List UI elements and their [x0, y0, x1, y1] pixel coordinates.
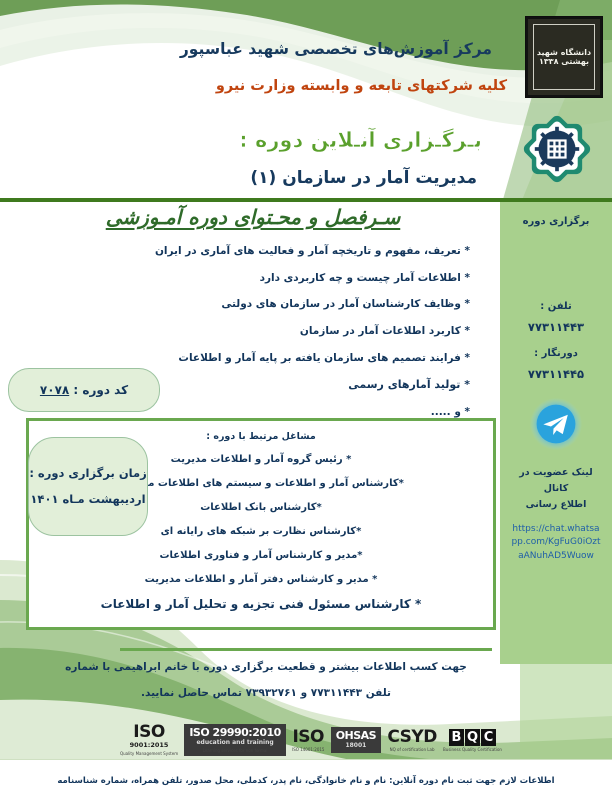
list-item: * وظایف کارشناسان آمار در سازمان های دول…: [10, 298, 470, 312]
footer-contact-line-2: تلفن ۷۷۳۱۱۴۴۳ و ۷۳۹۳۲۷۶۱ تماس حاصل نمایی…: [30, 686, 502, 702]
ohsas-18001-logo: OHSAS 18001: [331, 727, 381, 752]
university-logo-text: دانشگاه شهید بهشتی ۱۳۳۸: [533, 24, 595, 90]
whatsapp-channel-link[interactable]: https://chat.whatsapp.com/KgFuG0iOztaANu…: [510, 523, 602, 562]
course-date-label: زمان برگزاری دوره :: [29, 461, 146, 486]
syllabus-heading: سـرفصل و محـتوای دوره آمـوزشی: [10, 205, 496, 229]
fax-label: دورنگار :: [534, 348, 578, 359]
org-title: مرکز آموزش‌های تخصصی شهید عباسپور: [180, 40, 492, 58]
university-logo: دانشگاه شهید بهشتی ۱۳۳۸: [526, 17, 602, 97]
telegram-icon[interactable]: [529, 397, 583, 451]
course-code-label: کد دوره :: [69, 383, 128, 397]
header-separator: [0, 198, 612, 202]
channel-info: لینک عضویت در کانال اطلاع رسانی: [519, 465, 592, 513]
online-course-label: بـرگـزاری آنـلاین دوره :: [239, 128, 482, 152]
ministry-of-energy-emblem-icon: [520, 112, 594, 186]
course-date-badge: زمان برگزاری دوره : اردیبهشت مـاه ۱۴۰۱: [28, 437, 148, 536]
course-title: مدیریت آمار در سازمان (۱): [250, 168, 477, 188]
bqc-logo: BQC Business Quality Certification: [443, 729, 502, 752]
phone-value: ۷۷۳۱۱۴۴۳: [528, 320, 584, 334]
cert-desc: NQ of certification Lab: [390, 747, 435, 752]
org-subtitle: کلیه شرکتهای تابعه و وابسته وزارت نیرو: [216, 78, 507, 94]
course-date-value: اردیبهشت مـاه ۱۴۰۱: [30, 487, 145, 512]
cert-name: OHSAS: [336, 730, 376, 741]
cert-standard: ISO 14001:2015: [292, 747, 324, 752]
iso-9001-logo: ISO 9001:2015 Quality Management System: [120, 724, 178, 756]
list-item: *مدیر و کارشناس آمار و فناوری اطلاعات: [43, 549, 479, 562]
footer-contact: جهت کسب اطلاعات بیشتر و قطعیت برگزاری دو…: [30, 660, 502, 712]
phone-label: تلفن :: [540, 301, 572, 312]
footer-contact-line-1: جهت کسب اطلاعات بیشتر و قطعیت برگزاری دو…: [30, 660, 502, 676]
channel-line-2: کانال: [519, 481, 592, 497]
registration-disclaimer: اطلاعات لازم جهت ثبت نام دوره آنلاین: نا…: [0, 776, 612, 786]
fax-value: ۷۷۳۱۱۴۴۵: [528, 367, 584, 381]
poster-page: دانشگاه شهید بهشتی ۱۳۳۸: [0, 0, 612, 792]
csyd-logo: CSYD NQ of certification Lab: [387, 729, 436, 752]
list-item: * تعریف، مفهوم و تاریخچه آمار و فعالیت ه…: [10, 245, 470, 259]
cert-name: ISO 29990:2010: [189, 727, 280, 738]
footer-divider: [120, 648, 492, 651]
cert-desc: Business Quality Certification: [443, 747, 502, 752]
iso-29990-logo: ISO 29990:2010 education and training Le…: [184, 724, 285, 755]
bqc-letters: BQC: [449, 729, 496, 746]
channel-line-1: لینک عضویت در: [519, 465, 592, 481]
sidebar-title: برگزاری دوره: [523, 216, 590, 227]
course-code-text: کد دوره : ۷۰۷۸: [40, 383, 128, 397]
cert-standard: 18001: [345, 742, 366, 749]
cert-standard: 9001:2015: [130, 742, 169, 750]
cert-standard: education and training: [196, 739, 273, 746]
contact-sidebar: برگزاری دوره تلفن : ۷۷۳۱۱۴۴۳ دورنگار : ۷…: [500, 202, 612, 664]
list-item: * کاربرد اطلاعات آمار در سازمان: [10, 325, 470, 339]
cert-desc: Quality Management System: [120, 751, 178, 756]
cert-name: CSYD: [387, 729, 436, 746]
course-code-badge: کد دوره : ۷۰۷۸: [8, 368, 160, 412]
list-item: * فرایند تصمیم های سازمان یافته بر پایه …: [10, 352, 470, 366]
certification-logos: ISO 9001:2015 Quality Management System …: [120, 718, 502, 762]
cert-name: ISO: [292, 729, 324, 746]
cert-desc: Learning services for non formal: [203, 748, 268, 753]
course-code-value: ۷۰۷۸: [40, 383, 69, 397]
channel-line-3: اطلاع رسانی: [519, 497, 592, 513]
list-item: * اطلاعات آمار چیست و چه کاربردی دارد: [10, 272, 470, 286]
iso-14001-logo: ISO ISO 14001:2015: [292, 729, 324, 752]
list-item: * مدیر و کارشناس دفتر آمار و اطلاعات مدی…: [43, 573, 479, 586]
cert-name: ISO: [133, 724, 165, 741]
list-item: * کارشناس مسئول فنی تجزیه و تحلیل آمار و…: [43, 597, 479, 613]
